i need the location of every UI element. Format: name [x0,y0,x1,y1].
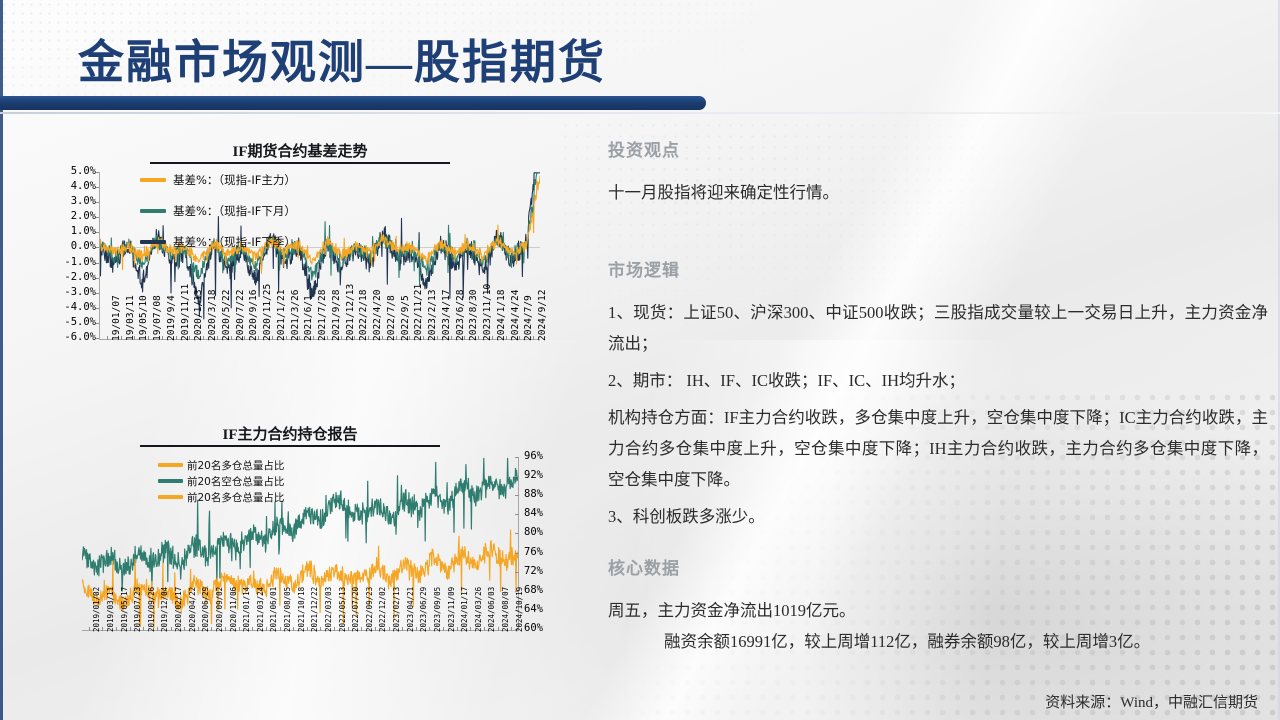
x-tick-label: 2022/4/20 [372,290,383,341]
x-tick-label: 2022/9/5 [400,295,411,341]
x-tick-label: 2020/04/22 [188,587,197,632]
x-tick-mark [121,336,122,340]
x-tick-label: 2023/2/13 [427,290,438,341]
x-tick-label: 2023/06/29 [419,587,428,632]
x-tick-label: 2019/12/04 [160,587,169,632]
x-tick-label: 2019/01/02 [92,587,101,632]
y-tick-label: 88% [524,488,543,500]
x-tick-label: 2019/07/23 [133,587,142,632]
x-tick-mark [313,336,314,340]
x-tick-label: 2020/11/25 [262,284,273,341]
spacer [608,214,1268,256]
x-tick-mark [148,336,149,340]
section-heading-investment-view: 投资观点 [608,136,1268,161]
x-tick-label: 2021/1/21 [276,290,287,341]
x-tick-mark [361,627,362,631]
x-tick-label: 2024/03/26 [474,587,483,632]
legend-item-label: 前20名多仓总量占比 [187,490,284,505]
legend-color-swatch [158,479,183,483]
x-tick-mark [130,627,131,631]
x-tick-label: 2023/02/13 [392,587,401,632]
x-tick-mark [272,336,273,340]
investment-view-text: 十一月股指将迎来确定性行情。 [608,177,1268,208]
x-tick-label: 19/05/10 [138,295,149,341]
x-tick-label: 2024/08/07 [501,587,510,632]
y-tick-label: -6.0% [40,331,96,343]
spacer [608,538,1268,554]
x-tick-label: 2020/7/22 [235,290,246,341]
legend-color-swatch [140,209,166,213]
legend-item-label: 前20名多仓总量占比 [187,458,284,473]
x-tick-mark [402,627,403,631]
slide-root: 金融市场观测—股指期货 IF期货合约基差走势 5.0%4.0%3.0%2.0%1… [0,0,1280,720]
x-tick-label: 2023/04/21 [406,587,415,632]
x-tick-mark [457,627,458,631]
y-tick-mark [515,514,519,515]
x-tick-mark [176,336,177,340]
x-tick-label: 19/07/08 [152,295,163,341]
y-tick-label: 76% [524,546,543,558]
x-tick-label: 2024/01/17 [460,587,469,632]
y-tick-label: 0.0% [40,240,96,252]
x-tick-label: 2022/09/23 [365,587,374,632]
x-tick-mark [375,627,376,631]
y-tick-label: 80% [524,526,543,538]
x-tick-label: 2023/6/28 [455,290,466,341]
x-tick-mark [341,336,342,340]
x-tick-label: 2023/8/30 [468,290,479,341]
x-tick-mark [286,336,287,340]
slide-header: 金融市场观测—股指期货 [0,0,1280,130]
x-tick-label: 2021/03/24 [256,587,265,632]
x-tick-mark [225,627,226,631]
x-tick-label: 2022/7/8 [386,295,397,341]
x-tick-label: 19/01/07 [111,295,122,341]
x-tick-label: 2024/9/12 [537,290,548,341]
y-tick-label: 68% [524,584,543,596]
y-tick-mark [515,533,519,534]
legend-item-label: 基差%：（现指-IF下月） [173,203,296,219]
y-tick-label: 5.0% [40,165,96,177]
x-tick-mark [437,336,438,340]
legend-item[interactable]: 前20名空仓总量占比 [158,474,284,488]
x-tick-label: 2023/09/05 [433,587,442,632]
y-tick-label: 4.0% [40,180,96,192]
legend-item[interactable]: 基差%：（现指-IF下月） [140,201,296,220]
y-tick-label: 72% [524,565,543,577]
x-tick-mark [334,627,335,631]
x-tick-label: 2022/07/20 [351,587,360,632]
y-tick-label: 3.0% [40,195,96,207]
section-heading-core-data: 核心数据 [608,554,1268,579]
y-tick-label: -5.0% [40,316,96,328]
x-tick-label: 2021/7/28 [317,290,328,341]
x-tick-label: 2024/4/24 [510,290,521,341]
y-tick-label: 60% [524,622,543,634]
x-tick-mark [162,336,163,340]
x-tick-label: 2024/10/19 [515,587,524,632]
x-tick-mark [409,336,410,340]
x-tick-label: 2020/09/02 [215,587,224,632]
chart-basis-trend: IF期货合约基差走势 5.0%4.0%3.0%2.0%1.0%0.0%-1.0%… [0,130,580,410]
y-tick-label: 92% [524,469,543,481]
x-tick-label: 2021/08/05 [283,587,292,632]
x-tick-mark [184,627,185,631]
legend-color-swatch [140,240,166,244]
x-tick-mark [231,336,232,340]
x-tick-label: 2020/9/16 [248,290,259,341]
x-tick-label: 2021/9/28 [331,290,342,341]
y-tick-mark [515,495,519,496]
x-tick-mark [198,627,199,631]
x-tick-mark [533,336,534,340]
x-tick-mark [266,627,267,631]
x-tick-label: 2024/7/9 [523,295,534,341]
x-tick-label: 2024/06/03 [487,587,496,632]
x-tick-label: 2024/1/18 [496,290,507,341]
legend-color-swatch [140,178,166,182]
x-tick-mark [443,627,444,631]
x-tick-label: 2020/3/18 [207,290,218,341]
y-tick-label: -4.0% [40,301,96,313]
x-tick-mark [320,627,321,631]
x-tick-mark [217,336,218,340]
y-tick-label: 64% [524,603,543,615]
y-tick-mark [515,553,519,554]
y-tick-label: 96% [524,450,543,462]
x-tick-mark [307,627,308,631]
x-tick-mark [102,627,103,631]
x-tick-mark [492,336,493,340]
x-tick-mark [211,627,212,631]
y-tick-mark [515,476,519,477]
x-tick-mark [293,627,294,631]
x-tick-mark [252,627,253,631]
x-tick-mark [116,627,117,631]
x-tick-mark [484,627,485,631]
x-tick-mark [396,336,397,340]
page-title: 金融市场观测—股指期货 [78,36,606,90]
x-tick-mark [464,336,465,340]
legend-item-label: 基差%：（现指-IF下季） [173,234,296,250]
x-tick-mark [354,336,355,340]
x-tick-mark [416,627,417,631]
x-tick-label: 2020/11/06 [229,587,238,632]
legend-color-swatch [158,463,183,467]
x-tick-label: 2019/03/11 [106,587,115,632]
x-tick-label: 2022/05/13 [338,587,347,632]
x-tick-mark [451,336,452,340]
x-tick-mark [258,336,259,340]
header-accent-bar [0,96,706,110]
x-tick-mark [429,627,430,631]
chart-holdings-legend: 前20名多仓总量占比 前20名空仓总量占比 前20名多仓总量占比 [158,458,284,504]
x-tick-label: 2023/11/10 [482,284,493,341]
x-tick-label: 2022/11/21 [413,284,424,341]
x-tick-mark [368,336,369,340]
x-tick-mark [423,336,424,340]
section-heading-market-logic: 市场逻辑 [608,256,1268,281]
legend-color-swatch [158,495,183,499]
x-tick-label: 2019/09/26 [147,587,156,632]
chart-basis-axis-vertical [99,172,100,340]
x-tick-label: 2023/11/09 [447,587,456,632]
x-tick-label: 2021/10/18 [297,587,306,632]
x-tick-mark [203,336,204,340]
market-logic-item-spot: 1、现货：上证50、沪深300、中证500收跌；三股指成交量较上一交易日上升，主… [608,297,1268,359]
header-divider-line [0,112,1280,114]
x-tick-label: 2021/06/01 [269,587,278,632]
x-tick-mark [299,336,300,340]
x-tick-label: 2019/9/4 [166,295,177,341]
legend-item-label: 前20名空仓总量占比 [187,474,284,489]
y-tick-label: 2.0% [40,210,96,222]
legend-item[interactable]: 基差%：（现指-IF主力） [140,170,296,189]
x-tick-mark [470,627,471,631]
y-tick-label: -3.0% [40,286,96,298]
x-tick-label: 2021/12/22 [310,587,319,632]
x-tick-label: 2021/01/14 [242,587,251,632]
chart-basis-title: IF期货合约基差走势 [150,142,450,164]
x-tick-mark [478,336,479,340]
x-tick-mark [134,336,135,340]
source-attribution: 资料来源：Wind，中融汇信期货 [1045,691,1258,712]
x-tick-label: 2020/02/17 [174,587,183,632]
y-tick-label: -2.0% [40,271,96,283]
x-tick-mark [506,336,507,340]
x-tick-mark [280,627,281,631]
legend-item[interactable]: 基差%：（现指-IF下季） [140,232,296,251]
y-tick-label: -1.0% [40,256,96,268]
x-tick-label: 2022/2/18 [358,290,369,341]
y-tick-mark [515,457,519,458]
x-tick-label: 2022/03/03 [324,587,333,632]
market-logic-item-star-market: 3、科创板跌多涨少。 [608,501,1268,532]
x-tick-mark [327,336,328,340]
x-tick-mark [239,627,240,631]
x-tick-mark [89,627,90,631]
y-tick-label: 1.0% [40,225,96,237]
x-tick-mark [382,336,383,340]
commentary-panel: 投资观点 十一月股指将迎来确定性行情。 市场逻辑 1、现货：上证50、沪深300… [608,136,1268,716]
chart-holdings-title: IF主力合约持仓报告 [140,425,440,447]
market-logic-item-futures: 2、期市： IH、IF、IC收跌；IF、IC、IH均升水； [608,365,1268,396]
x-tick-label: 2021/6/1 [303,295,314,341]
x-tick-label: 19/03/11 [125,295,136,341]
market-logic-item-positions: 机构持仓方面：IF主力合约收跌，多仓集中度上升，空仓集中度下降；IC主力合约收跌… [608,402,1268,495]
x-tick-mark [348,627,349,631]
legend-item[interactable]: 前20名多仓总量占比 [158,490,284,504]
legend-item-label: 基差%：（现指-IF主力） [173,172,296,188]
charts-column: IF期货合约基差走势 5.0%4.0%3.0%2.0%1.0%0.0%-1.0%… [0,130,580,720]
y-tick-label: 84% [524,507,543,519]
x-tick-mark [189,336,190,340]
x-tick-label: 2019/05/17 [120,587,129,632]
x-tick-mark [171,627,172,631]
x-tick-mark [107,336,108,340]
x-tick-label: 2020/5/22 [221,290,232,341]
x-tick-mark [511,627,512,631]
core-data-line-2: 融资余额16991亿，较上周增112亿，融券余额98亿，较上周增3亿。 [664,626,1268,657]
core-data-line-1: 周五，主力资金净流出1019亿元。 [608,595,1268,626]
y-tick-mark [515,572,519,573]
x-tick-label: 2021/3/26 [290,290,301,341]
x-tick-label: 2020/06/29 [201,587,210,632]
x-tick-label: 2023/4/17 [441,290,452,341]
x-tick-mark [519,336,520,340]
x-tick-mark [498,627,499,631]
x-tick-mark [244,336,245,340]
x-tick-label: 2020/1/13 [193,290,204,341]
x-tick-mark [157,627,158,631]
legend-item[interactable]: 前20名多仓总量占比 [158,458,284,472]
chart-basis-legend: 基差%：（现指-IF主力） 基差%：（现指-IF下月） 基差%：（现指-IF下季… [140,170,296,251]
x-tick-label: 2021/12/13 [345,284,356,341]
x-tick-mark [389,627,390,631]
chart-holdings-report: IF主力合约持仓报告 96%92%88%84%80%76%72%68%64%60… [0,415,580,715]
x-tick-label: 2019/11/11 [180,284,191,341]
x-tick-mark [143,627,144,631]
x-tick-label: 2022/12/02 [378,587,387,632]
